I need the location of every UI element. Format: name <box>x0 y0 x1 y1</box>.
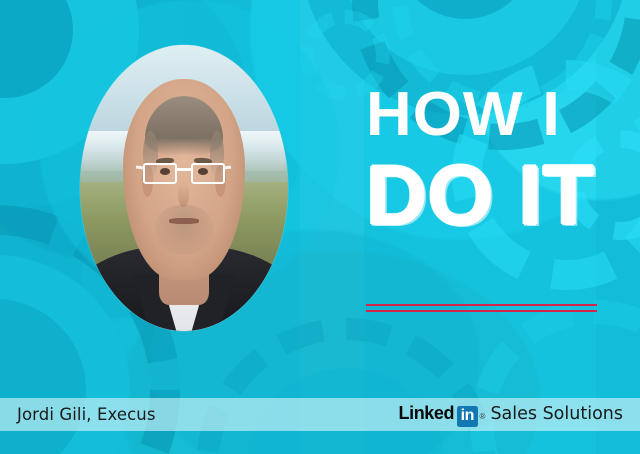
linkedin-sales-solutions-logo: Linked in ® Sales Solutions <box>399 403 624 426</box>
byline-text: Jordi Gili, Execus <box>17 405 156 424</box>
accent-rule-top <box>366 304 597 306</box>
linkedin-in-icon: in <box>457 406 478 427</box>
headline-line-2: DO IT <box>366 157 616 234</box>
avatar-image <box>80 45 288 331</box>
how-i-do-it-card: HOW I DO IT Jordi Gili, Execus Linked in… <box>0 0 640 454</box>
linkedin-wordmark: Linked <box>399 403 455 424</box>
headline-line-1: HOW I <box>366 86 621 143</box>
accent-rule-bottom <box>366 310 597 312</box>
glasses-icon <box>143 163 225 184</box>
headline-block: HOW I DO IT <box>366 86 616 234</box>
registered-mark: ® <box>480 412 486 421</box>
footer-bar: Jordi Gili, Execus Linked in ® Sales Sol… <box>0 398 640 431</box>
avatar <box>80 45 288 331</box>
headline-rules <box>366 304 597 312</box>
sales-solutions-tagline: Sales Solutions <box>490 404 623 424</box>
